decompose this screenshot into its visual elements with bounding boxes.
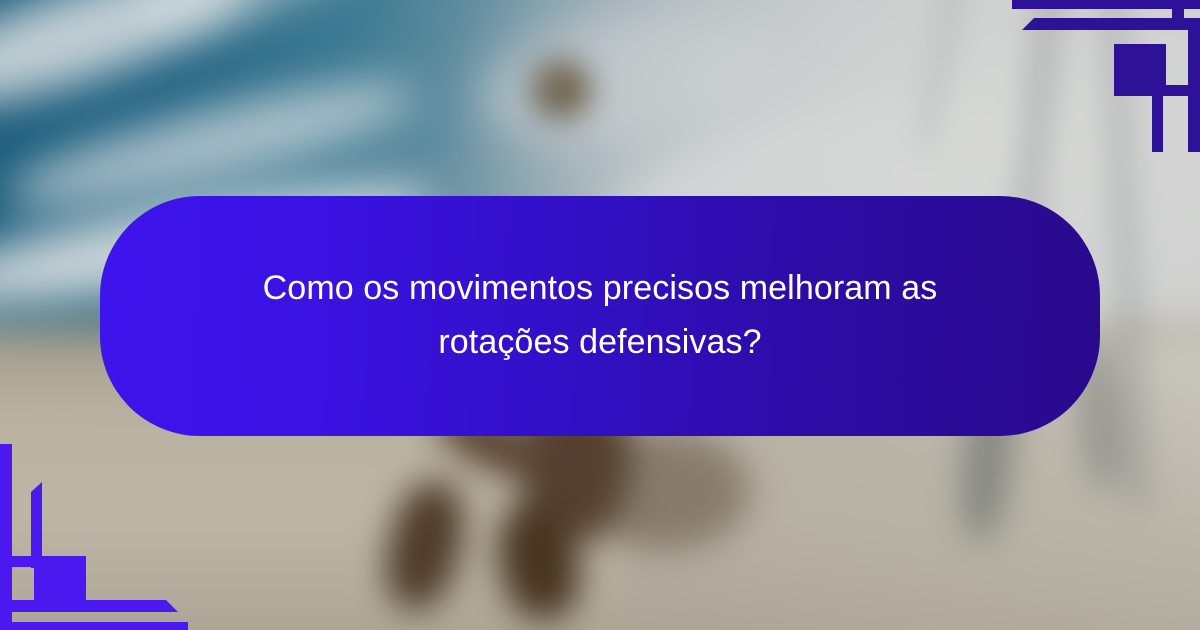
volleyball-blur <box>532 60 590 118</box>
page-title: Como os movimentos precisos melhoram as … <box>220 262 980 369</box>
social-card-canvas: Como os movimentos precisos melhoram as … <box>0 0 1200 630</box>
corner-frame-top-right-icon <box>1004 0 1200 152</box>
title-card: Como os movimentos precisos melhoram as … <box>100 196 1100 436</box>
corner-frame-bottom-left-icon <box>0 434 196 630</box>
